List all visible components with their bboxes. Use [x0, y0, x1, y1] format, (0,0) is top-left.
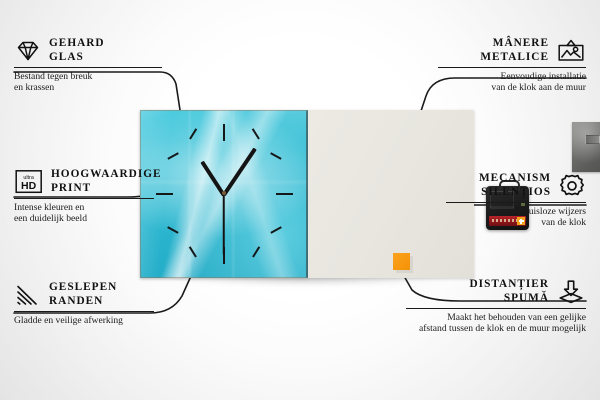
- feature-description: Geruisloze wijzers van de klok: [446, 206, 586, 229]
- feature-title: DISTANȚIER SPUMĂ: [406, 278, 549, 305]
- svg-text:HD: HD: [21, 180, 37, 192]
- feature-rule: [406, 308, 586, 309]
- feature-rule: [438, 67, 586, 68]
- diamond-icon: [14, 39, 42, 63]
- feature-description: Eenvoudige installatie van de klok aan d…: [438, 71, 586, 94]
- feature-rule: [446, 202, 586, 203]
- feature-description: Gladde en veilige afwerking: [14, 315, 154, 326]
- feature-rule: [14, 198, 154, 199]
- feature-rule: [14, 67, 162, 68]
- feature-rule: [14, 311, 154, 312]
- feature-header: ultra HD HOOGWAARDIGE PRINT: [14, 168, 154, 195]
- feature-manere-metalice[interactable]: MÂNERE METALICE Eenvoudige installatie v…: [438, 37, 586, 94]
- feature-title: MECANISM SILENȚIOS: [446, 172, 551, 199]
- feature-mecanism-silentios[interactable]: MECANISM SILENȚIOS Geruisloze wijzers va…: [446, 172, 586, 229]
- feature-title: HOOGWAARDIGE PRINT: [51, 168, 162, 195]
- hanger-slot: [585, 135, 600, 144]
- feature-header: GEHARD GLAS: [14, 37, 162, 64]
- feature-hoogwaardige-print[interactable]: ultra HD HOOGWAARDIGE PRINT Intense kleu…: [14, 168, 154, 225]
- feature-header: MÂNERE METALICE: [438, 37, 586, 64]
- feature-description: Bestand tegen breuk en krassen: [14, 71, 162, 94]
- feature-title: GESLEPEN RANDEN: [49, 281, 117, 308]
- beveled-edges-icon: [14, 283, 42, 307]
- clock-face-front: [140, 110, 308, 278]
- picture-hanger-icon: [556, 38, 586, 63]
- product-image: [140, 110, 474, 278]
- spacer-down-arrow-icon: [556, 279, 586, 305]
- metal-hanger-plate: [572, 122, 600, 172]
- ultra-hd-icon: ultra HD: [14, 169, 44, 194]
- feature-header: MECANISM SILENȚIOS: [446, 172, 586, 199]
- feature-header: GESLEPEN RANDEN: [14, 281, 154, 308]
- feature-title: MÂNERE METALICE: [438, 37, 549, 64]
- feature-header: DISTANȚIER SPUMĂ: [406, 278, 586, 305]
- foam-spacer: [393, 253, 410, 270]
- feature-distantier-spuma[interactable]: DISTANȚIER SPUMĂ Maakt het behouden van …: [406, 278, 586, 335]
- glass-edge: [140, 110, 308, 278]
- feature-gehard-glas[interactable]: GEHARD GLAS Bestand tegen breuk en krass…: [14, 37, 162, 94]
- infographic-canvas: GEHARD GLAS Bestand tegen breuk en krass…: [0, 0, 600, 400]
- feature-geslepen-randen[interactable]: GESLEPEN RANDEN Gladde en veilige afwerk…: [14, 281, 154, 326]
- feature-title: GEHARD GLAS: [49, 37, 105, 64]
- feature-description: Intense kleuren en een duidelijk beeld: [14, 202, 154, 225]
- gear-icon: [558, 173, 586, 199]
- feature-description: Maakt het behouden van een gelijke afsta…: [406, 312, 586, 335]
